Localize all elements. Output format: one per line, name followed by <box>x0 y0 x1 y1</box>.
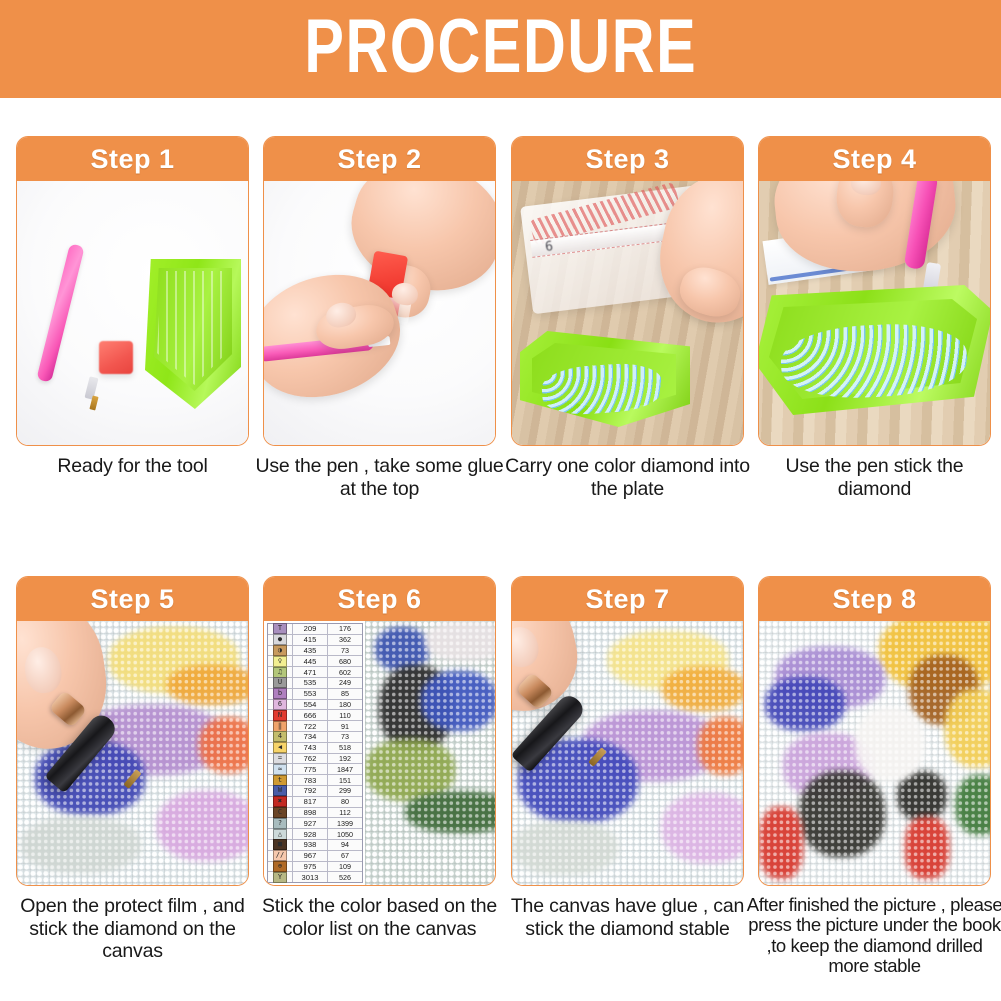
color-code-cell: 3013 <box>293 872 328 882</box>
color-count-cell: 602 <box>328 667 362 677</box>
table-row: ⊕975109 <box>268 862 362 873</box>
color-swatch-icon: ≈ <box>273 764 287 775</box>
table-row: ●415362 <box>268 635 362 646</box>
color-code-cell: 792 <box>293 786 328 796</box>
color-count-cell: 518 <box>328 743 362 753</box>
step-card-7: Step 7 <box>511 576 744 886</box>
table-row: ■93894 <box>268 840 362 851</box>
color-count-cell: 176 <box>328 624 362 634</box>
color-count-cell: 1399 <box>328 818 362 828</box>
color-count-cell: 94 <box>328 840 362 850</box>
color-code-cell: 783 <box>293 775 328 785</box>
color-symbol-cell: Y <box>268 872 293 882</box>
color-code-cell: 975 <box>293 862 328 872</box>
procedure-infographic: PROCEDURE Step 1 <box>0 0 1001 1001</box>
color-code-cell: 554 <box>293 700 328 710</box>
table-row: ♫471602 <box>268 667 362 678</box>
color-symbol-cell: △ <box>268 829 293 839</box>
color-swatch-icon: U <box>273 677 287 688</box>
steps-grid: Step 1 Ready for the tool <box>0 98 1001 1001</box>
color-swatch-icon: △ <box>273 829 287 840</box>
step-cell-1: Step 1 Ready for the tool <box>8 136 257 478</box>
color-swatch-icon: ? <box>273 818 287 829</box>
color-symbol-cell: ■ <box>268 840 293 850</box>
color-swatch-icon: ◀ <box>273 742 287 753</box>
color-symbol-cell: b <box>268 689 293 699</box>
color-count-cell: 299 <box>328 786 362 796</box>
color-code-cell: 435 <box>293 646 328 656</box>
color-symbol-cell: ◀ <box>268 743 293 753</box>
step-header-4: Step 4 <box>759 137 990 181</box>
color-code-cell: 898 <box>293 808 328 818</box>
color-symbol-cell: t <box>268 775 293 785</box>
color-swatch-icon: 6 <box>273 699 287 710</box>
table-row: T209176 <box>268 624 362 635</box>
green-tray-icon <box>759 285 990 415</box>
color-symbol-cell: ♀ <box>268 656 293 666</box>
color-code-cell: 553 <box>293 689 328 699</box>
step-card-6: Step 6 T20917 <box>263 576 496 886</box>
color-count-cell: 80 <box>328 797 362 807</box>
color-symbol-cell: W <box>268 786 293 796</box>
color-count-cell: 1847 <box>328 764 362 774</box>
color-swatch-icon: 4 <box>273 731 287 742</box>
color-symbol-cell: U <box>268 678 293 688</box>
color-code-cell: 743 <box>293 743 328 753</box>
step-header-label: Step 4 <box>832 144 916 175</box>
step-header-2: Step 2 <box>264 137 495 181</box>
step-image-7 <box>512 621 743 885</box>
step-image-3: 6 <box>512 181 743 445</box>
color-symbol-cell: T <box>268 624 293 634</box>
table-row: U535249 <box>268 678 362 689</box>
color-code-cell: 535 <box>293 678 328 688</box>
color-symbol-cell: ? <box>268 818 293 828</box>
step-image-6: T209176●415362◑43573♀445680♫471602U53524… <box>264 621 495 885</box>
color-count-cell: 91 <box>328 721 362 731</box>
color-count-cell: 180 <box>328 700 362 710</box>
table-row: C898112 <box>268 808 362 819</box>
color-swatch-icon: // <box>273 850 287 861</box>
color-symbol-cell: ‖ <box>268 721 293 731</box>
step-header-label: Step 5 <box>90 584 174 615</box>
bead-texture <box>759 621 990 885</box>
step-image-1 <box>17 181 248 445</box>
table-row: t783151 <box>268 775 362 786</box>
step-card-5: Step 5 <box>16 576 249 886</box>
color-swatch-icon: ✖ <box>273 796 287 807</box>
step-header-7: Step 7 <box>512 577 743 621</box>
color-count-cell: 362 <box>328 635 362 645</box>
color-count-cell: 1050 <box>328 829 362 839</box>
green-tray-icon <box>520 331 690 427</box>
step-header-label: Step 8 <box>832 584 916 615</box>
step-image-5 <box>17 621 248 885</box>
color-count-cell: 151 <box>328 775 362 785</box>
color-count-cell: 526 <box>328 872 362 882</box>
table-row: //96767 <box>268 851 362 862</box>
step-cell-4: Step 4 <box>750 136 999 500</box>
step-caption-5: Open the protect film , and stick the di… <box>8 895 257 963</box>
color-swatch-icon: t <box>273 775 287 786</box>
table-row: ◀743518 <box>268 743 362 754</box>
mosaic-canvas-right <box>365 621 495 885</box>
color-symbol-cell: = <box>268 754 293 764</box>
table-row: N666110 <box>268 710 362 721</box>
color-code-cell: 722 <box>293 721 328 731</box>
color-list-table: T209176●415362◑43573♀445680♫471602U53524… <box>267 623 363 883</box>
color-count-cell: 112 <box>328 808 362 818</box>
table-row: Y3013526 <box>268 872 362 882</box>
step-card-3: Step 3 6 <box>511 136 744 446</box>
color-code-cell: 817 <box>293 797 328 807</box>
step-cell-3: Step 3 6 <box>503 136 752 500</box>
red-glue-square-icon <box>99 341 133 374</box>
color-code-cell: 445 <box>293 656 328 666</box>
color-swatch-icon: ♫ <box>273 667 287 678</box>
page-title: PROCEDURE <box>304 9 697 89</box>
color-symbol-cell: 6 <box>268 700 293 710</box>
color-swatch-icon: ◑ <box>273 645 287 656</box>
step-caption-2: Use the pen , take some glue at the top <box>255 455 504 500</box>
table-row: 6554180 <box>268 700 362 711</box>
color-symbol-cell: 4 <box>268 732 293 742</box>
step-caption-4: Use the pen stick the diamond <box>750 455 999 500</box>
step-header-6: Step 6 <box>264 577 495 621</box>
color-count-cell: 73 <box>328 646 362 656</box>
step-header-label: Step 1 <box>90 144 174 175</box>
color-count-cell: 109 <box>328 862 362 872</box>
color-count-cell: 85 <box>328 689 362 699</box>
step-cell-7: Step 7 <box>503 576 752 940</box>
step-card-2: Step 2 <box>263 136 496 446</box>
table-row: ?9271399 <box>268 818 362 829</box>
color-symbol-cell: // <box>268 851 293 861</box>
step-header-label: Step 6 <box>337 584 421 615</box>
color-swatch-icon: ‖ <box>273 721 287 732</box>
color-symbol-cell: ≈ <box>268 764 293 774</box>
step-card-4: Step 4 <box>758 136 991 446</box>
table-row: ‖72291 <box>268 721 362 732</box>
color-count-cell: 249 <box>328 678 362 688</box>
step-cell-8: Step 8 <box>750 576 999 976</box>
step-caption-7: The canvas have glue , can stick the dia… <box>503 895 752 940</box>
color-swatch-icon: T <box>273 623 287 634</box>
table-row: ✖81780 <box>268 797 362 808</box>
color-symbol-cell: N <box>268 710 293 720</box>
table-row: △9281050 <box>268 829 362 840</box>
step-header-label: Step 3 <box>585 144 669 175</box>
color-swatch-icon: C <box>273 807 287 818</box>
color-symbol-cell: ⊕ <box>268 862 293 872</box>
step-header-label: Step 7 <box>585 584 669 615</box>
step-cell-6: Step 6 T20917 <box>255 576 504 940</box>
color-swatch-icon: ■ <box>273 839 287 850</box>
step-caption-6: Stick the color based on the color list … <box>255 895 504 940</box>
color-swatch-icon: W <box>273 785 287 796</box>
table-row: ≈7751847 <box>268 764 362 775</box>
page-header-banner: PROCEDURE <box>0 0 1001 98</box>
step-image-2 <box>264 181 495 445</box>
step-card-8: Step 8 <box>758 576 991 886</box>
step-header-5: Step 5 <box>17 577 248 621</box>
step-header-3: Step 3 <box>512 137 743 181</box>
step-header-8: Step 8 <box>759 577 990 621</box>
table-row: 473473 <box>268 732 362 743</box>
color-symbol-cell: ● <box>268 635 293 645</box>
color-count-cell: 73 <box>328 732 362 742</box>
color-code-cell: 415 <box>293 635 328 645</box>
color-count-cell: 110 <box>328 710 362 720</box>
color-code-cell: 967 <box>293 851 328 861</box>
table-row: ♀445680 <box>268 656 362 667</box>
color-symbol-cell: C <box>268 808 293 818</box>
color-code-cell: 471 <box>293 667 328 677</box>
color-swatch-icon: = <box>273 753 287 764</box>
bead-texture <box>365 621 495 885</box>
step-caption-8: After finished the picture , please pres… <box>746 895 1001 976</box>
step-caption-1: Ready for the tool <box>8 455 257 478</box>
table-row: ◑43573 <box>268 646 362 657</box>
color-code-cell: 209 <box>293 624 328 634</box>
color-code-cell: 666 <box>293 710 328 720</box>
color-code-cell: 938 <box>293 840 328 850</box>
color-swatch-icon: b <box>273 688 287 699</box>
step-caption-3: Carry one color diamond into the plate <box>503 455 752 500</box>
table-row: b55385 <box>268 689 362 700</box>
color-code-cell: 762 <box>293 754 328 764</box>
color-swatch-icon: ♀ <box>273 656 287 667</box>
color-symbol-cell: ◑ <box>268 646 293 656</box>
step-image-8 <box>759 621 990 885</box>
color-symbol-cell: ✖ <box>268 797 293 807</box>
color-code-cell: 775 <box>293 764 328 774</box>
color-code-cell: 734 <box>293 732 328 742</box>
step-cell-2: Step 2 <box>255 136 504 500</box>
color-swatch-icon: N <box>273 710 287 721</box>
step-header-label: Step 2 <box>337 144 421 175</box>
color-count-cell: 680 <box>328 656 362 666</box>
table-row: W792299 <box>268 786 362 797</box>
color-swatch-icon: ● <box>273 634 287 645</box>
color-swatch-icon: Y <box>273 872 287 883</box>
step-header-1: Step 1 <box>17 137 248 181</box>
bag-label-number: 6 <box>544 239 555 255</box>
color-symbol-cell: ♫ <box>268 667 293 677</box>
color-code-cell: 927 <box>293 818 328 828</box>
color-swatch-icon: ⊕ <box>273 861 287 872</box>
color-count-cell: 67 <box>328 851 362 861</box>
step-cell-5: Step 5 <box>8 576 257 963</box>
color-code-cell: 928 <box>293 829 328 839</box>
step-image-4 <box>759 181 990 445</box>
green-tray-icon <box>145 259 241 409</box>
step-card-1: Step 1 <box>16 136 249 446</box>
table-row: =762192 <box>268 754 362 765</box>
color-count-cell: 192 <box>328 754 362 764</box>
